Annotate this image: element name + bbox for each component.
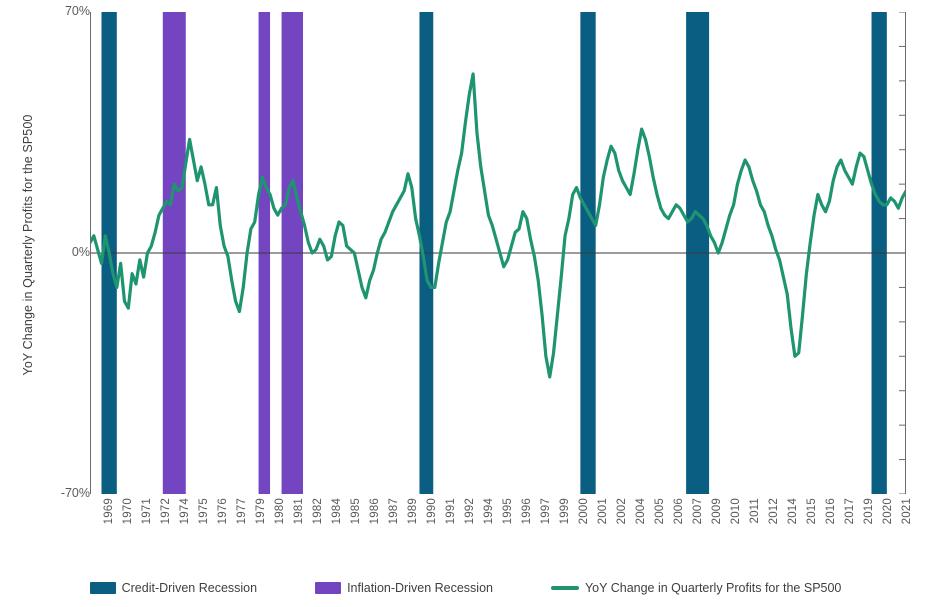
x-axis-label-1981: 1981 (293, 498, 305, 556)
x-axis-label-2020: 2020 (882, 498, 894, 556)
x-axis-label-1989: 1989 (407, 498, 419, 556)
x-axis-label-1986: 1986 (369, 498, 381, 556)
x-axis-label-1977: 1977 (236, 498, 248, 556)
x-axis-label-2019: 2019 (863, 498, 875, 556)
x-axis-label-1994: 1994 (483, 498, 495, 556)
x-axis-label-2017: 2017 (844, 498, 856, 556)
legend-item-0[interactable]: Credit-Driven Recession (90, 581, 257, 595)
x-axis-label-1971: 1971 (141, 498, 153, 556)
x-axis-label-2012: 2012 (768, 498, 780, 556)
x-axis-label-1985: 1985 (350, 498, 362, 556)
chart-plot-svg (90, 12, 906, 494)
x-axis-label-1991: 1991 (445, 498, 457, 556)
legend-label: Inflation-Driven Recession (347, 581, 493, 595)
x-axis-label-1972: 1972 (160, 498, 172, 556)
legend-swatch-icon (90, 582, 116, 594)
legend-item-1[interactable]: Inflation-Driven Recession (315, 581, 493, 595)
x-axis-label-2014: 2014 (787, 498, 799, 556)
x-axis-label-2011: 2011 (749, 498, 761, 556)
x-axis-label-2010: 2010 (730, 498, 742, 556)
x-axis-label-2009: 2009 (711, 498, 723, 556)
x-axis-label-1987: 1987 (388, 498, 400, 556)
legend-label: Credit-Driven Recession (122, 581, 257, 595)
x-axis-label-2016: 2016 (825, 498, 837, 556)
x-axis-label-1995: 1995 (502, 498, 514, 556)
x-axis-label-1982: 1982 (312, 498, 324, 556)
x-axis-label-2005: 2005 (654, 498, 666, 556)
x-axis-label-1976: 1976 (217, 498, 229, 556)
y-axis-label-zero: 0% (30, 245, 90, 259)
legend-label: YoY Change in Quarterly Profits for the … (585, 581, 841, 595)
x-axis-label-2007: 2007 (692, 498, 704, 556)
x-axis-label-1980: 1980 (274, 498, 286, 556)
x-axis-tick-labels: 1969197019711972197419751976197719791980… (90, 498, 906, 570)
x-axis-label-1984: 1984 (331, 498, 343, 556)
x-axis-label-1975: 1975 (198, 498, 210, 556)
x-axis-label-2006: 2006 (673, 498, 685, 556)
x-axis-label-1992: 1992 (464, 498, 476, 556)
x-axis-label-1979: 1979 (255, 498, 267, 556)
x-axis-label-1969: 1969 (103, 498, 115, 556)
x-axis-label-2000: 2000 (578, 498, 590, 556)
legend-item-2[interactable]: YoY Change in Quarterly Profits for the … (551, 581, 841, 595)
x-axis-label-1970: 1970 (122, 498, 134, 556)
x-axis-label-2004: 2004 (635, 498, 647, 556)
x-axis-label-1974: 1974 (179, 498, 191, 556)
y-axis-tick-labels: 70% 0% -70% (0, 0, 90, 510)
x-axis-label-1996: 1996 (521, 498, 533, 556)
x-axis-label-2015: 2015 (806, 498, 818, 556)
y-axis-label-min: -70% (30, 486, 90, 500)
x-axis-label-1990: 1990 (426, 498, 438, 556)
x-axis-label-1997: 1997 (540, 498, 552, 556)
chart-container: YoY Change in Quarterly Profits for the … (0, 0, 931, 607)
profit-series-line (90, 19, 906, 398)
y-axis-label-max: 70% (30, 4, 90, 18)
x-axis-label-2002: 2002 (616, 498, 628, 556)
legend-swatch-icon (315, 582, 341, 594)
x-axis-label-2001: 2001 (597, 498, 609, 556)
x-axis-label-2021: 2021 (901, 498, 913, 556)
plot-area (90, 12, 906, 494)
legend-line-icon (551, 586, 579, 590)
chart-legend: Credit-Driven RecessionInflation-Driven … (0, 576, 931, 600)
x-axis-label-1999: 1999 (559, 498, 571, 556)
